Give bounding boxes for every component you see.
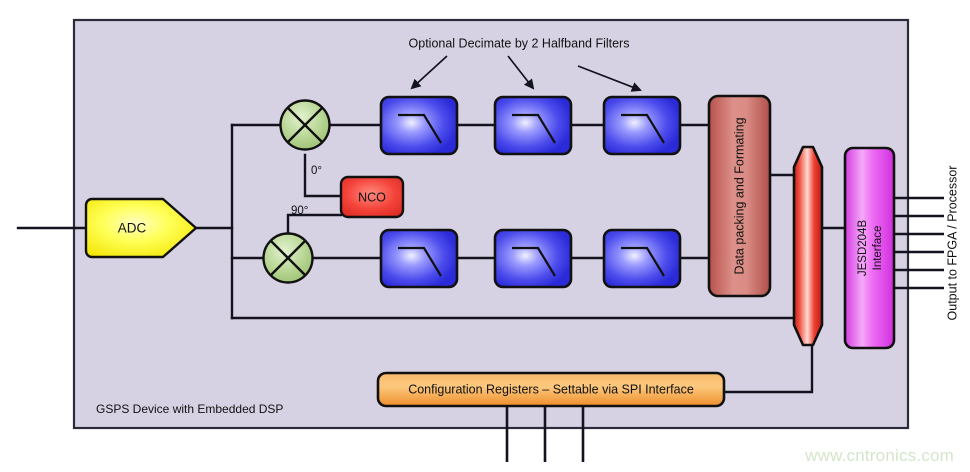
hpf-block-3-shape (604, 97, 680, 154)
jesd204b-shape (845, 148, 894, 348)
hpf-block-1[interactable] (381, 97, 457, 154)
hpf-block-5[interactable] (495, 230, 571, 287)
phase-label-bottom: 90° (291, 205, 308, 217)
device-panel (74, 20, 908, 428)
data-packing-label: Data packing and Formating (732, 117, 746, 274)
nco-label: NCO (358, 190, 386, 204)
mux-block[interactable] (794, 147, 822, 345)
hpf-block-3[interactable] (604, 97, 680, 154)
panel-label: GSPS Device with Embedded DSP (96, 402, 283, 416)
jesd204b-label-line2: Interface (872, 226, 884, 271)
hpf-block-6[interactable] (604, 230, 680, 287)
hpf-block-2[interactable] (495, 97, 571, 154)
watermark: www.cntronics.com (805, 446, 954, 466)
mux-shape (794, 147, 822, 345)
config-registers-label: Configuration Registers – Settable via S… (408, 382, 694, 396)
halfband-annotation: Optional Decimate by 2 Halfband Filters (409, 36, 630, 50)
hpf-block-5-shape (495, 230, 571, 287)
jesd204b-block[interactable]: JESD204B Interface (845, 148, 894, 348)
hpf-block-2-shape (495, 97, 571, 154)
data-packing-block[interactable]: Data packing and Formating (709, 96, 770, 296)
output-label: Output to FPGA / Processor (945, 166, 959, 321)
nco-block[interactable]: NCO (341, 177, 403, 217)
hpf-block-4-shape (381, 230, 457, 287)
jesd204b-label-line1: JESD204B (857, 220, 869, 277)
phase-label-top: 0° (311, 165, 322, 177)
hpf-block-4[interactable] (381, 230, 457, 287)
adc-label: ADC (118, 221, 147, 236)
diagram-canvas: ADC 0° 90° NCO (0, 0, 970, 472)
block-diagram-svg: ADC 0° 90° NCO (0, 0, 970, 472)
hpf-block-1-shape (381, 97, 457, 154)
mixer-bottom[interactable] (264, 234, 313, 283)
mixer-top[interactable] (281, 101, 330, 150)
hpf-block-6-shape (604, 230, 680, 287)
config-registers-block[interactable]: Configuration Registers – Settable via S… (378, 373, 724, 406)
